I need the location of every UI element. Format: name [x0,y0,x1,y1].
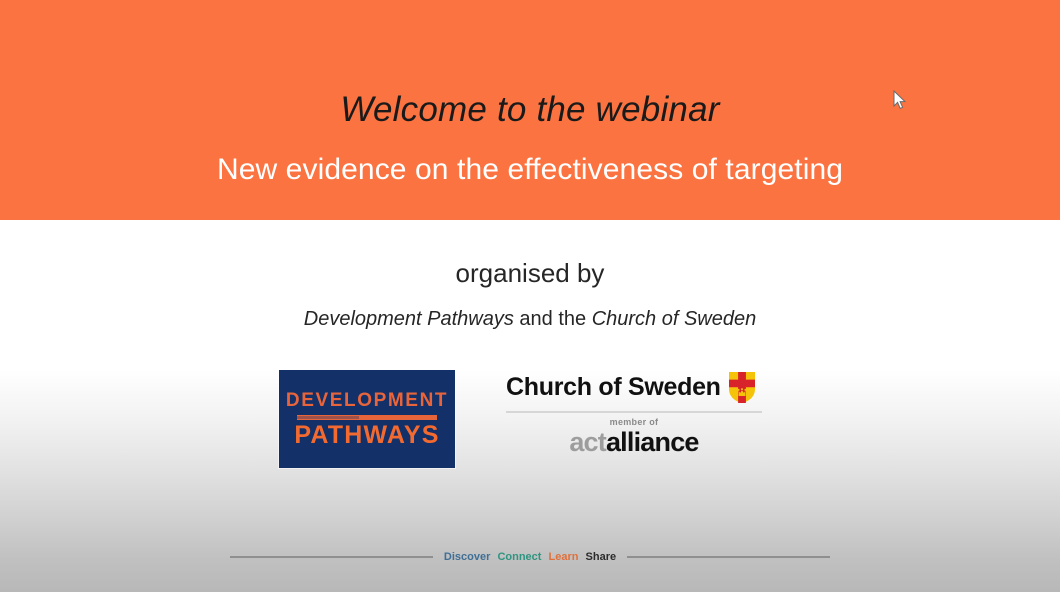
organised-by-label: organised by [0,256,1060,290]
shield-crest-icon [729,372,755,403]
footer-word-connect: Connect [497,551,541,563]
organiser-development-pathways: Development Pathways [304,308,514,330]
church-of-sweden-logo: Church of Sweden member of actalliance [506,370,764,460]
act-alliance-wordmark-alliance: alliance [606,427,699,457]
church-of-sweden-wordmark: Church of Sweden [506,372,721,402]
organiser-church-of-sweden: Church of Sweden [592,308,757,330]
footer-tagline-words: Discover Connect Learn Share [433,550,627,564]
organisers-line: Development Pathways and the Church of S… [0,305,1060,333]
footer: Discover Connect Learn Share contact@soc… [0,544,1060,592]
development-pathways-logo-line2: PATHWAYS [294,422,439,449]
webinar-title-slide: Welcome to the webinar New evidence on t… [0,0,1060,592]
footer-word-share: Share [586,551,617,563]
church-of-sweden-divider [506,411,762,413]
organiser-conjunction: and the [514,308,592,330]
footer-word-discover: Discover [444,551,490,563]
church-of-sweden-title-row: Church of Sweden [506,370,764,404]
footer-word-learn: Learn [549,551,579,563]
footer-rule-left [230,556,433,558]
footer-rule-right [627,556,830,558]
act-alliance-wordmark: actalliance [506,428,762,457]
act-alliance-wordmark-act: act [569,427,606,457]
development-pathways-logo: DEVELOPMENT PATHWAYS [279,370,455,468]
development-pathways-logo-line1: DEVELOPMENT [286,390,448,412]
page-subtitle: New evidence on the effectiveness of tar… [0,150,1060,190]
footer-tagline-row: Discover Connect Learn Share [230,550,830,564]
page-title: Welcome to the webinar [0,88,1060,132]
development-pathways-logo-rule [297,415,437,420]
